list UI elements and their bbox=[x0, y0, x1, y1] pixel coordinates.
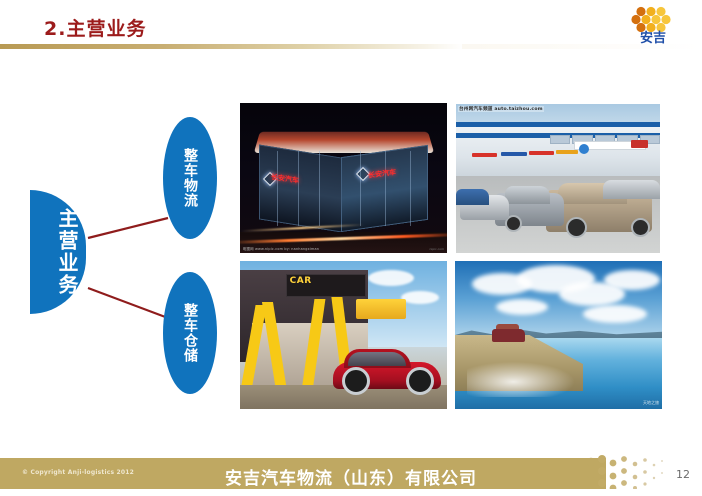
cloud bbox=[401, 291, 439, 304]
logo-wordmark: 安吉 bbox=[630, 31, 676, 46]
logo-honeycomb-dots-icon bbox=[630, 6, 676, 32]
cloud bbox=[368, 270, 414, 286]
wheel bbox=[406, 367, 434, 395]
photo-watermark-right: nipic.com bbox=[430, 247, 444, 251]
diagram-root-label: 主营业务 bbox=[30, 196, 80, 308]
wheel bbox=[342, 367, 370, 395]
photo-watermark: 台州网汽车频道 auto.taizhou.com bbox=[458, 106, 544, 112]
wheel bbox=[631, 218, 650, 237]
glass-facade-left bbox=[259, 144, 342, 232]
red-car bbox=[333, 347, 441, 396]
market-building bbox=[456, 122, 660, 178]
banner bbox=[472, 153, 496, 157]
brand-logo: 安吉 bbox=[630, 6, 676, 48]
banner bbox=[631, 140, 647, 148]
window bbox=[550, 135, 570, 144]
photo-watermark: 昵图网 www.nipic.com by: nanhangximan bbox=[243, 246, 319, 251]
photo-car-lot: 台州网汽车频道 auto.taizhou.com bbox=[456, 104, 660, 253]
banner bbox=[501, 152, 528, 156]
cloud bbox=[604, 270, 660, 290]
page-number: 12 bbox=[676, 468, 690, 481]
photo-red-car-showroom: CAR bbox=[240, 261, 447, 409]
banner bbox=[529, 151, 553, 155]
photo-lake-landscape: 天地之旅 bbox=[455, 261, 662, 409]
canopy bbox=[356, 299, 406, 318]
car bbox=[456, 189, 489, 205]
car bbox=[492, 329, 525, 342]
mullion bbox=[410, 151, 411, 226]
mullion bbox=[298, 151, 299, 226]
car bbox=[603, 180, 660, 199]
windshield bbox=[348, 352, 406, 367]
footer-company-name: 安吉汽车物流（山东）有限公司 bbox=[0, 464, 702, 489]
diagram-branch-2-label: 整车仓储 bbox=[163, 278, 217, 388]
photo-watermark: 天地之旅 bbox=[643, 400, 659, 406]
car-roof bbox=[505, 186, 550, 204]
photo-dealership-night: 长安汽车 长安汽车 昵图网 www.nipic.com by: nanhangx… bbox=[240, 103, 447, 253]
slide-canvas: 2.主营业务 安吉 主营业务 整车物流 整车仓储 bbox=[0, 0, 702, 496]
mullion bbox=[319, 151, 320, 226]
mullion bbox=[385, 151, 386, 226]
page-title: 2.主营业务 bbox=[44, 14, 146, 41]
banner bbox=[556, 150, 578, 154]
header-divider-gold bbox=[0, 44, 464, 49]
shop-logo-icon bbox=[579, 144, 589, 154]
store-sign-text: CAR bbox=[290, 276, 312, 286]
footer-baseline bbox=[0, 489, 702, 496]
water-foam bbox=[467, 359, 583, 397]
diagram-branch-1-label: 整车物流 bbox=[163, 123, 217, 233]
mullion bbox=[360, 151, 361, 226]
